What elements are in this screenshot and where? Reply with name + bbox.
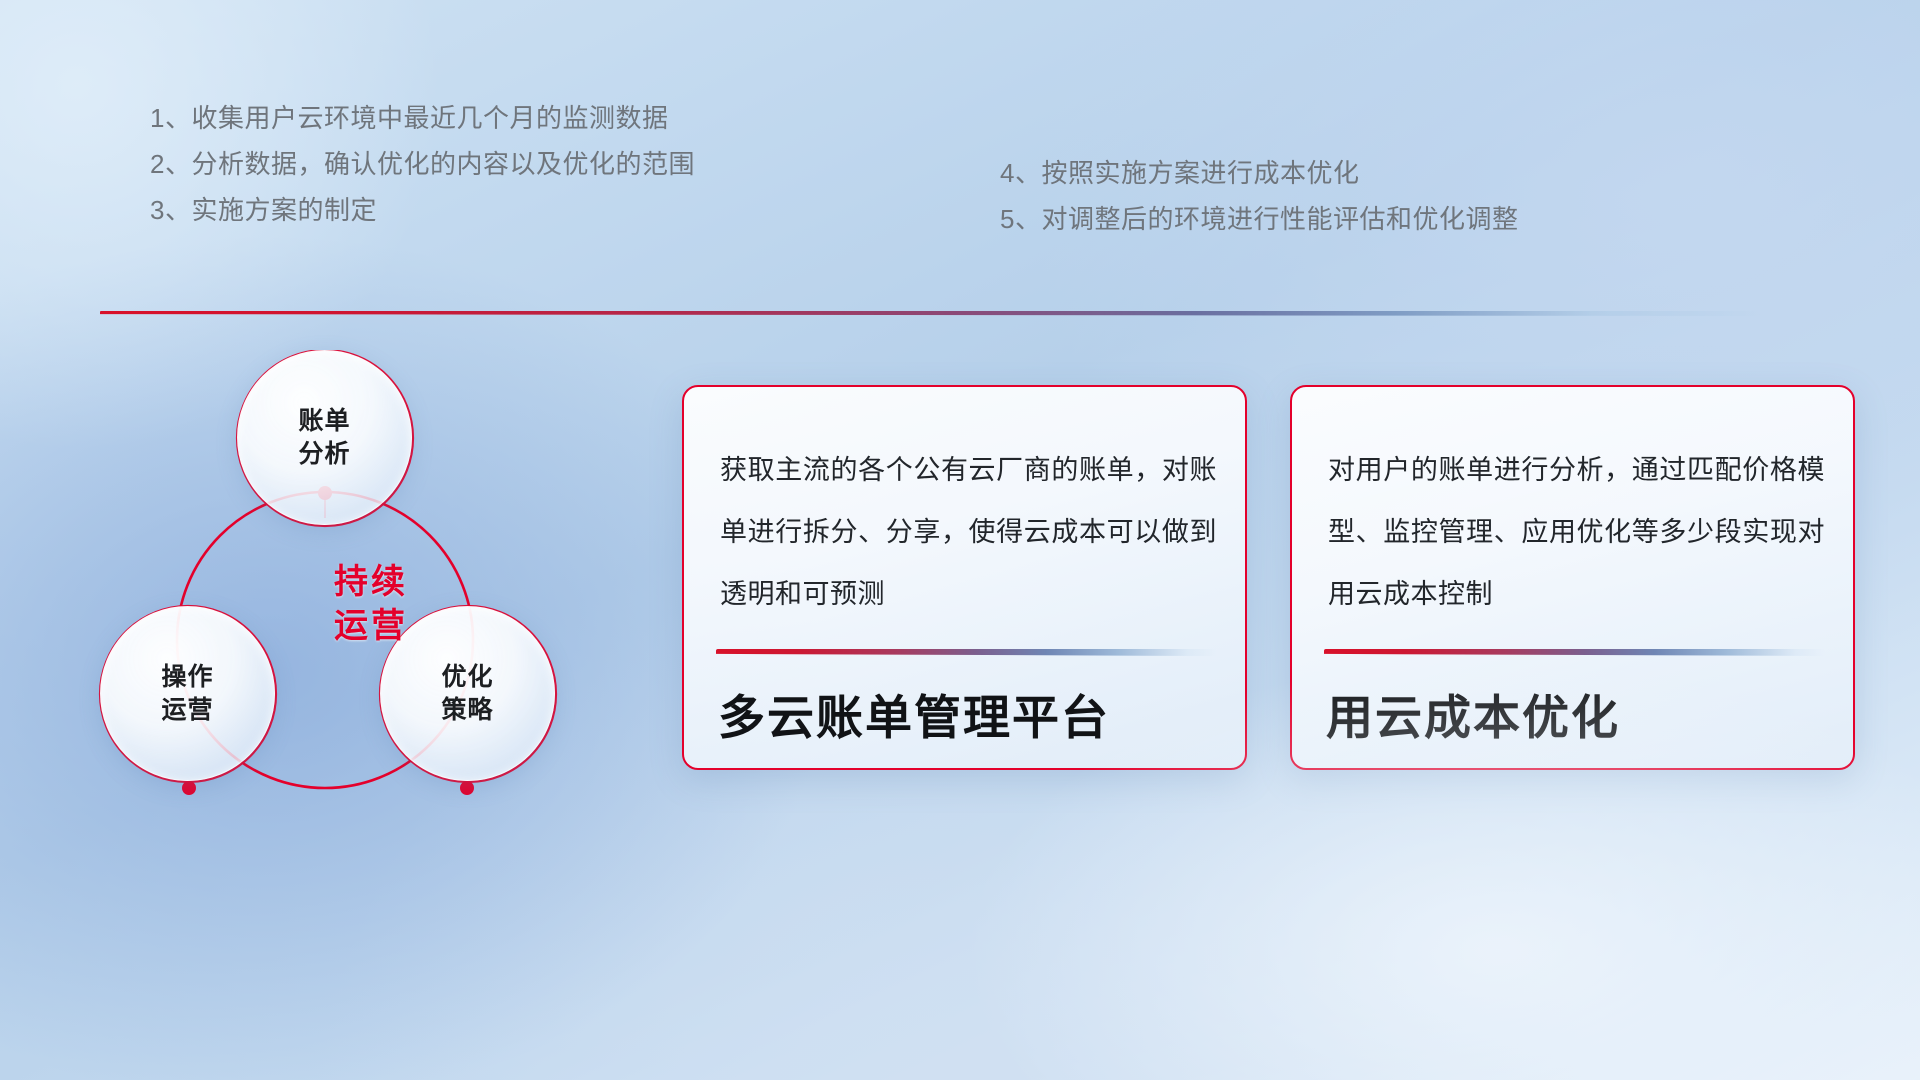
card-title: 用云成本优化 (1326, 679, 1829, 748)
cycle-center-label: 持续 运营 (281, 560, 461, 648)
card-body-text: 对用户的账单进行分析，通过匹配价格模型、监控管理、应用优化等多少段实现对用云成本… (1328, 439, 1825, 625)
section-divider (100, 311, 1760, 316)
slide-canvas: 1、收集用户云环境中最近几个月的监测数据 2、分析数据，确认优化的内容以及优化的… (0, 0, 1920, 1080)
cycle-node-label: 优化 策略 (441, 661, 493, 727)
feature-card-cost-optimization[interactable]: 对用户的账单进行分析，通过匹配价格模型、监控管理、应用优化等多少段实现对用云成本… (1290, 385, 1855, 770)
cycle-node-label: 操作 运营 (161, 661, 213, 727)
bullet-item: 5、对调整后的环境进行性能评估和优化调整 (1000, 196, 1518, 242)
bullet-item: 3、实施方案的制定 (150, 187, 695, 233)
card-divider (716, 649, 1217, 656)
node-dot-left (182, 781, 196, 795)
bullet-item: 1、收集用户云环境中最近几个月的监测数据 (150, 95, 695, 141)
bullet-list-left: 1、收集用户云环境中最近几个月的监测数据 2、分析数据，确认优化的内容以及优化的… (150, 95, 695, 233)
cycle-node-operations[interactable]: 操作 运营 (100, 606, 275, 781)
card-title: 多云账单管理平台 (718, 679, 1221, 748)
bullet-item: 2、分析数据，确认优化的内容以及优化的范围 (150, 141, 695, 187)
cycle-node-label: 账单 分析 (298, 405, 350, 471)
bullet-item: 4、按照实施方案进行成本优化 (1000, 150, 1518, 196)
bullet-list-right: 4、按照实施方案进行成本优化 5、对调整后的环境进行性能评估和优化调整 (1000, 150, 1518, 242)
card-body-text: 获取主流的各个公有云厂商的账单，对账单进行拆分、分享，使得云成本可以做到透明和可… (720, 439, 1217, 625)
cycle-center-label-line2: 运营 (281, 604, 461, 648)
node-dot-right (460, 781, 474, 795)
card-divider (1324, 649, 1825, 656)
cycle-center-label-line1: 持续 (281, 560, 461, 604)
cycle-node-bill-analysis[interactable]: 账单 分析 (237, 350, 412, 525)
feature-card-multicloud-billing[interactable]: 获取主流的各个公有云厂商的账单，对账单进行拆分、分享，使得云成本可以做到透明和可… (682, 385, 1247, 770)
cycle-diagram: 账单 分析 操作 运营 优化 策略 持续 运营 (95, 350, 615, 820)
